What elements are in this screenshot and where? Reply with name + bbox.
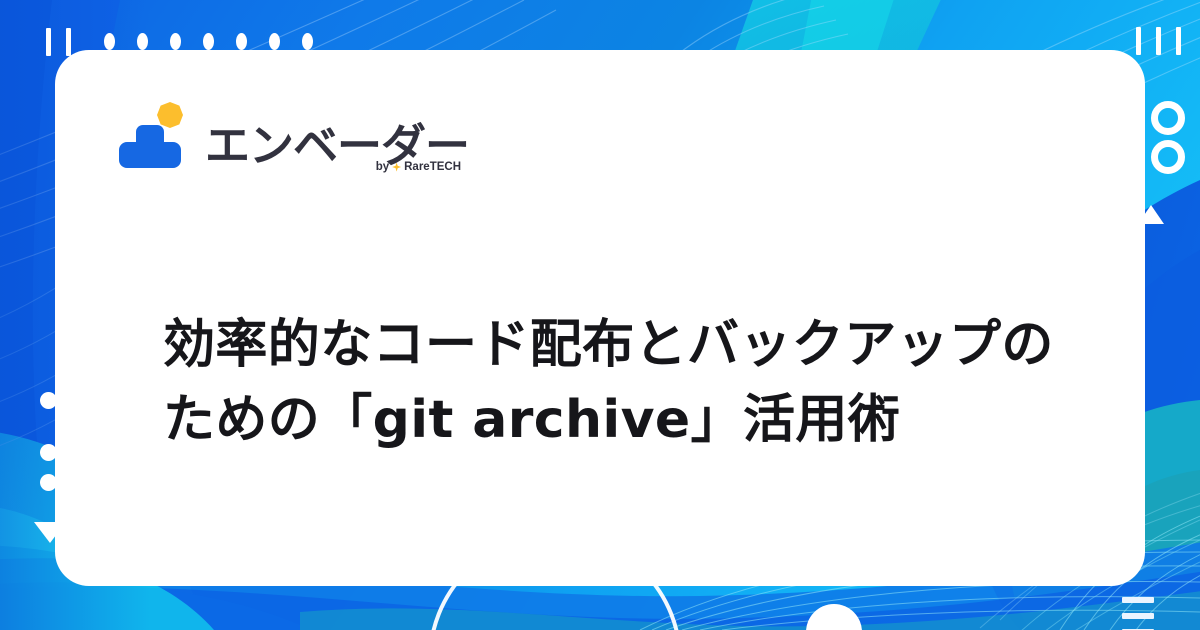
dot-marker-top-2 — [137, 33, 148, 50]
mark-base-shape — [119, 142, 181, 168]
ring-marker-right-2 — [1151, 140, 1185, 174]
bar-marker-top-left-2 — [66, 28, 71, 56]
dot-marker-top-5 — [236, 33, 247, 50]
bar-marker-top-left-1 — [46, 28, 51, 56]
bar-marker-top-right-3 — [1176, 27, 1181, 55]
site-logo[interactable]: エンベーダー by RareTECH — [117, 98, 469, 170]
byline-prefix: by — [376, 161, 389, 173]
article-title-line-2: ための「git archive」活用術 — [163, 383, 1123, 458]
spark-icon — [157, 102, 183, 128]
invader-mark-icon — [117, 98, 189, 170]
logo-wordmark: エンベーダー by RareTECH — [205, 123, 469, 170]
ogp-card-canvas: エンベーダー by RareTECH 効率的なコード配布とバックアップの ための… — [0, 0, 1200, 630]
logo-byline: by RareTECH — [376, 161, 461, 173]
bar-marker-bottom-right-1 — [1122, 597, 1154, 603]
ring-marker-right-1 — [1151, 101, 1185, 135]
dot-marker-top-7 — [302, 33, 313, 50]
content-card: エンベーダー by RareTECH 効率的なコード配布とバックアップの ための… — [55, 50, 1145, 586]
byline-brand: RareTECH — [404, 161, 461, 173]
dot-marker-top-3 — [170, 33, 181, 50]
bar-marker-top-right-1 — [1136, 27, 1141, 55]
dot-marker-top-4 — [203, 33, 214, 50]
dot-marker-top-1 — [104, 33, 115, 50]
bar-marker-top-right-2 — [1156, 27, 1161, 55]
article-title-line-1: 効率的なコード配布とバックアップの — [163, 308, 1123, 383]
bar-marker-bottom-right-2 — [1122, 613, 1154, 619]
article-title: 効率的なコード配布とバックアップの ための「git archive」活用術 — [163, 308, 1123, 458]
byline-spark-icon — [392, 163, 401, 172]
dot-marker-top-6 — [269, 33, 280, 50]
